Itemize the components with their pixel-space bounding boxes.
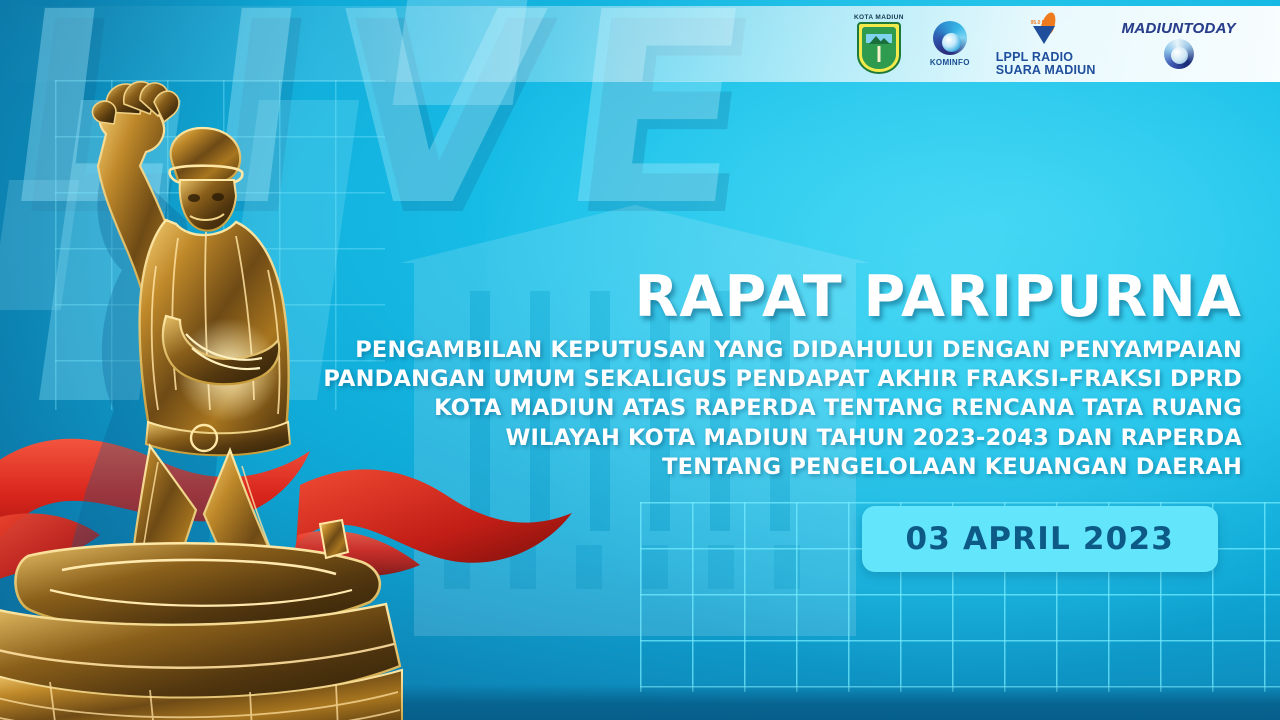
lppl-flame-icon: 95.0 FM [1033,12,1059,46]
logo-kota-madiun: KOTA MADIUN [854,14,904,74]
logo-lppl-radio: 95.0 FM LPPL RADIO SUARA MADIUN [996,12,1096,77]
page-title: RAPAT PARIPURNA [242,268,1242,328]
logo-madiuntoday: MADIUNTODAY [1122,20,1236,69]
lppl-line-1: LPPL RADIO [996,51,1096,64]
subtitle-line-2: PANDANGAN UMUM SEKALIGUS PENDAPAT AKHIR … [242,365,1242,394]
subtitle-line-5: TENTANG PENGELOLAAN KEUANGAN DAERAH [242,453,1242,482]
lppl-fm-frequency: 95.0 FM [1031,20,1049,26]
subtitle-line-1: PENGAMBILAN KEPUTUSAN YANG DIDAHULUI DEN… [242,336,1242,365]
subtitle-line-4: WILAYAH KOTA MADIUN TAHUN 2023-2043 DAN … [242,424,1242,453]
lppl-line-2: SUARA MADIUN [996,64,1096,77]
kominfo-globe-icon [933,21,967,55]
madiuntoday-label: MADIUNTODAY [1122,20,1236,37]
broadcast-lower-third-graphic: LIVE LIVE [0,0,1280,720]
madiuntoday-orb-icon [1164,39,1194,69]
kota-madiun-crest-icon [857,22,901,74]
subtitle-line-3: KOTA MADIUN ATAS RAPERDA TENTANG RENCANA… [242,394,1242,423]
event-date-badge: 03 APRIL 2023 [862,506,1218,572]
partner-logo-bar: KOTA MADIUN KOMINFO 95.0 FM LPPL RADIO S… [0,6,1280,82]
logo-kominfo: KOMINFO [930,21,970,67]
event-text-block: RAPAT PARIPURNA PENGAMBILAN KEPUTUSAN YA… [242,268,1242,482]
kota-madiun-caption: KOTA MADIUN [854,14,904,21]
kominfo-label: KOMINFO [930,58,970,67]
